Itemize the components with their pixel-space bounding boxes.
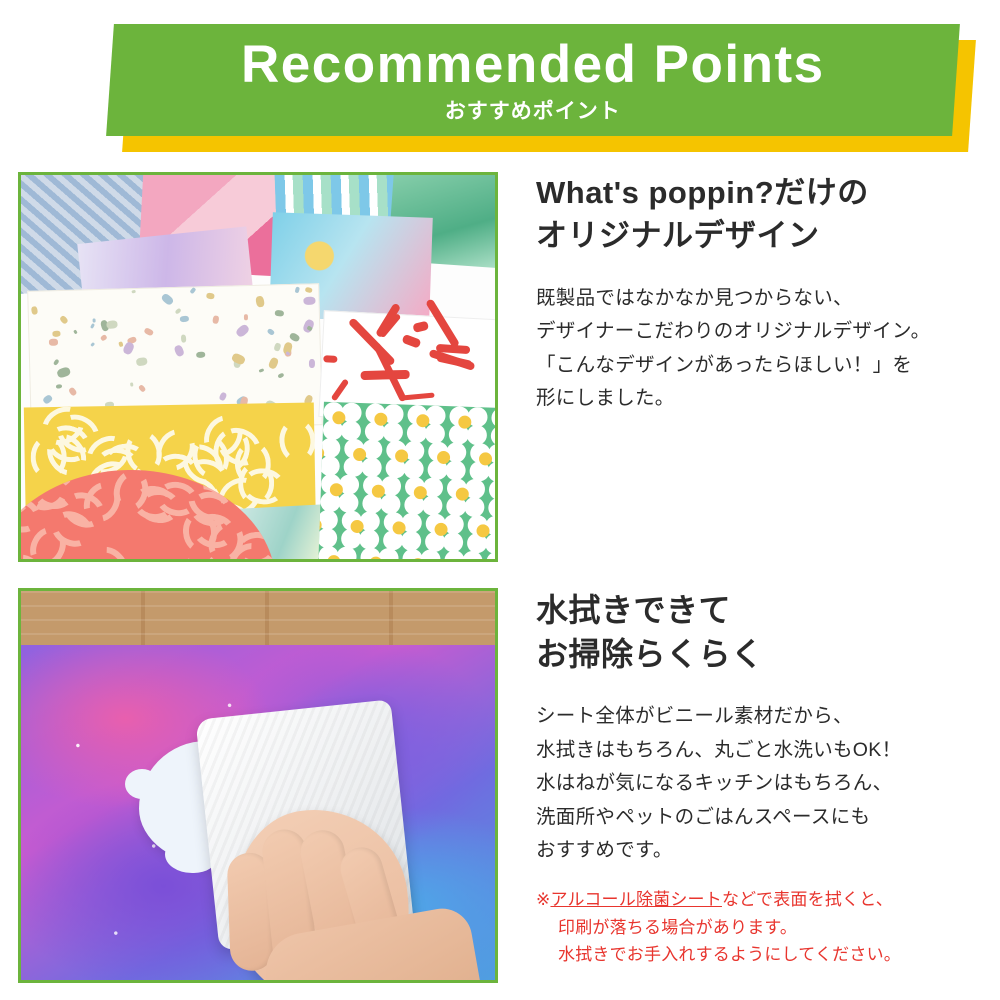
terrazzo-fleck	[266, 328, 275, 336]
squiggle	[277, 417, 316, 464]
flower-motif	[318, 437, 340, 476]
terrazzo-fleck	[308, 359, 314, 368]
terrazzo-fleck	[303, 296, 315, 305]
terrazzo-fleck	[106, 320, 118, 329]
section-original-design: What's poppin?だけの オリジナルデザイン 既製品ではなかなか見つか…	[18, 172, 976, 562]
section-easy-cleaning: 水拭きできて お掃除らくらく シート全体がビニール素材だから、 水拭きはもちろん…	[18, 588, 976, 983]
section2-body: シート全体がビニール素材だから、 水拭きはもちろん、丸ごと水洗いもOK！ 水はね…	[536, 700, 976, 868]
flower-motif	[407, 405, 446, 444]
terrazzo-fleck	[143, 327, 153, 336]
terrazzo-fleck	[131, 290, 136, 294]
flower-motif	[385, 440, 424, 479]
terrazzo-fleck	[135, 357, 147, 367]
terrazzo-fleck	[119, 341, 124, 347]
section2-body-line5: おすすめです。	[536, 839, 673, 861]
terrazzo-fleck	[181, 334, 187, 342]
section1-body-line1: 既製品ではなかなか見つからない、	[536, 287, 853, 309]
flower-motif	[425, 513, 464, 552]
terrazzo-fleck	[288, 332, 301, 343]
terrazzo-fleck	[173, 344, 184, 357]
red-brush-stroke	[330, 379, 348, 402]
page-subtitle: おすすめポイント	[241, 101, 825, 122]
red-brush-stroke	[360, 370, 409, 380]
flower-motif	[488, 480, 498, 519]
terrazzo-fleck	[190, 287, 197, 294]
terrazzo-fleck	[56, 366, 71, 379]
section2-body-line3: 水はねが気になるキッチンはもちろん、	[536, 772, 892, 794]
section2-heading-line1: 水拭きできて	[536, 592, 731, 628]
flower-motif	[360, 547, 399, 562]
section1-heading: What's poppin?だけの オリジナルデザイン	[536, 172, 976, 258]
note-line1-rest: などで表面を拭くと、	[722, 890, 893, 909]
header-band: Recommended Points おすすめポイント	[106, 24, 960, 136]
terrazzo-fleck	[180, 315, 189, 322]
terrazzo-fleck	[59, 314, 69, 324]
terrazzo-fleck	[219, 392, 228, 402]
section1-heading-line2: オリジナルデザイン	[536, 218, 820, 253]
section2-body-line1: シート全体がビニール素材だから、	[536, 705, 853, 727]
flower-motif	[383, 512, 422, 551]
terrazzo-fleck	[49, 339, 59, 346]
section1-body-line2: デザイナーこだわりのオリジナルデザイン。	[536, 320, 930, 342]
section1-body-line4: 形にしました。	[536, 387, 675, 409]
terrazzo-fleck	[277, 372, 285, 379]
section2-caution-note: ※アルコール除菌シートなどで表面を拭くと、 印刷が落ちる場合があります。 水拭き…	[536, 886, 976, 969]
terrazzo-fleck	[195, 351, 205, 358]
flower-motif	[444, 550, 483, 562]
flower-motif	[362, 475, 401, 514]
text-block-original-design: What's poppin?だけの オリジナルデザイン 既製品ではなかなか見つか…	[536, 172, 976, 562]
section1-body: 既製品ではなかなか見つからない、 デザイナーこだわりのオリジナルデザイン。 「こ…	[536, 282, 976, 416]
terrazzo-fleck	[130, 382, 133, 387]
terrazzo-fleck	[244, 314, 248, 320]
flower-motif	[427, 441, 466, 480]
terrazzo-fleck	[123, 341, 136, 356]
terrazzo-fleck	[100, 335, 108, 342]
terrazzo-fleck	[295, 287, 301, 294]
note-line3: 水拭きでお手入れするようにしてください。	[536, 941, 976, 969]
terrazzo-fleck	[31, 306, 38, 315]
note-underlined-term: アルコール除菌シート	[550, 890, 722, 909]
red-brush-stroke	[402, 333, 423, 348]
terrazzo-fleck	[212, 315, 219, 324]
flower-motif	[446, 478, 485, 517]
section2-body-line4: 洗面所やペットのごはんスペースにも	[536, 806, 870, 828]
page-title: Recommended Points	[241, 38, 825, 91]
flower-motif	[343, 438, 382, 477]
terrazzo-fleck	[73, 330, 78, 335]
photo-wiping-sheet	[18, 588, 498, 983]
terrazzo-fleck	[56, 384, 63, 389]
terrazzo-fleck	[206, 292, 215, 299]
flower-motif	[485, 552, 498, 562]
note-line2: 印刷が落ちる場合があります。	[536, 914, 976, 942]
terrazzo-fleck	[274, 342, 282, 351]
terrazzo-fleck	[93, 318, 96, 322]
terrazzo-fleck	[90, 342, 95, 347]
terrazzo-fleck	[268, 357, 279, 370]
red-brush-stroke	[413, 320, 430, 332]
flower-motif	[469, 443, 498, 482]
terrazzo-fleck	[235, 323, 250, 338]
design-swatch-flowers	[318, 402, 498, 562]
red-brush-stroke	[324, 355, 339, 363]
wood-floor	[21, 591, 495, 653]
flower-motif	[491, 408, 498, 447]
flower-motif	[341, 510, 380, 549]
red-brush-stroke	[436, 343, 471, 353]
section2-heading-line2: お掃除らくらく	[536, 636, 764, 672]
section1-body-line3: 「こんなデザインがあったらほしい！」を	[536, 354, 912, 376]
squiggle	[82, 539, 136, 562]
flower-motif	[467, 515, 498, 554]
terrazzo-fleck	[52, 331, 60, 337]
terrazzo-fleck	[274, 310, 283, 317]
terrazzo-fleck	[174, 308, 182, 315]
squiggle	[50, 559, 98, 562]
terrazzo-fleck	[259, 368, 264, 373]
terrazzo-fleck	[255, 295, 265, 308]
photo-original-designs	[18, 172, 498, 562]
terrazzo-fleck	[138, 384, 146, 392]
terrazzo-fleck	[304, 287, 312, 293]
flower-motif	[318, 546, 357, 562]
flower-motif	[320, 474, 359, 513]
flower-motif	[365, 403, 404, 442]
flower-motif	[402, 549, 441, 562]
terrazzo-fleck	[90, 323, 95, 329]
flower-motif	[323, 402, 362, 441]
section2-body-line2: 水拭きはもちろん、丸ごと水洗いもOK！	[536, 739, 901, 761]
terrazzo-fleck	[52, 358, 59, 365]
flower-motif	[449, 406, 488, 445]
flower-motif	[404, 477, 443, 516]
text-block-easy-cleaning: 水拭きできて お掃除らくらく シート全体がビニール素材だから、 水拭きはもちろん…	[536, 588, 976, 983]
section1-heading-line1: What's poppin?だけの	[536, 175, 869, 210]
note-mark: ※	[536, 890, 550, 909]
terrazzo-fleck	[69, 387, 78, 397]
terrazzo-fleck	[42, 394, 53, 405]
section2-heading: 水拭きできて お掃除らくらく	[536, 588, 976, 676]
terrazzo-fleck	[160, 292, 174, 306]
header-banner: Recommended Points おすすめポイント	[0, 0, 1000, 160]
flower-motif	[318, 509, 338, 548]
